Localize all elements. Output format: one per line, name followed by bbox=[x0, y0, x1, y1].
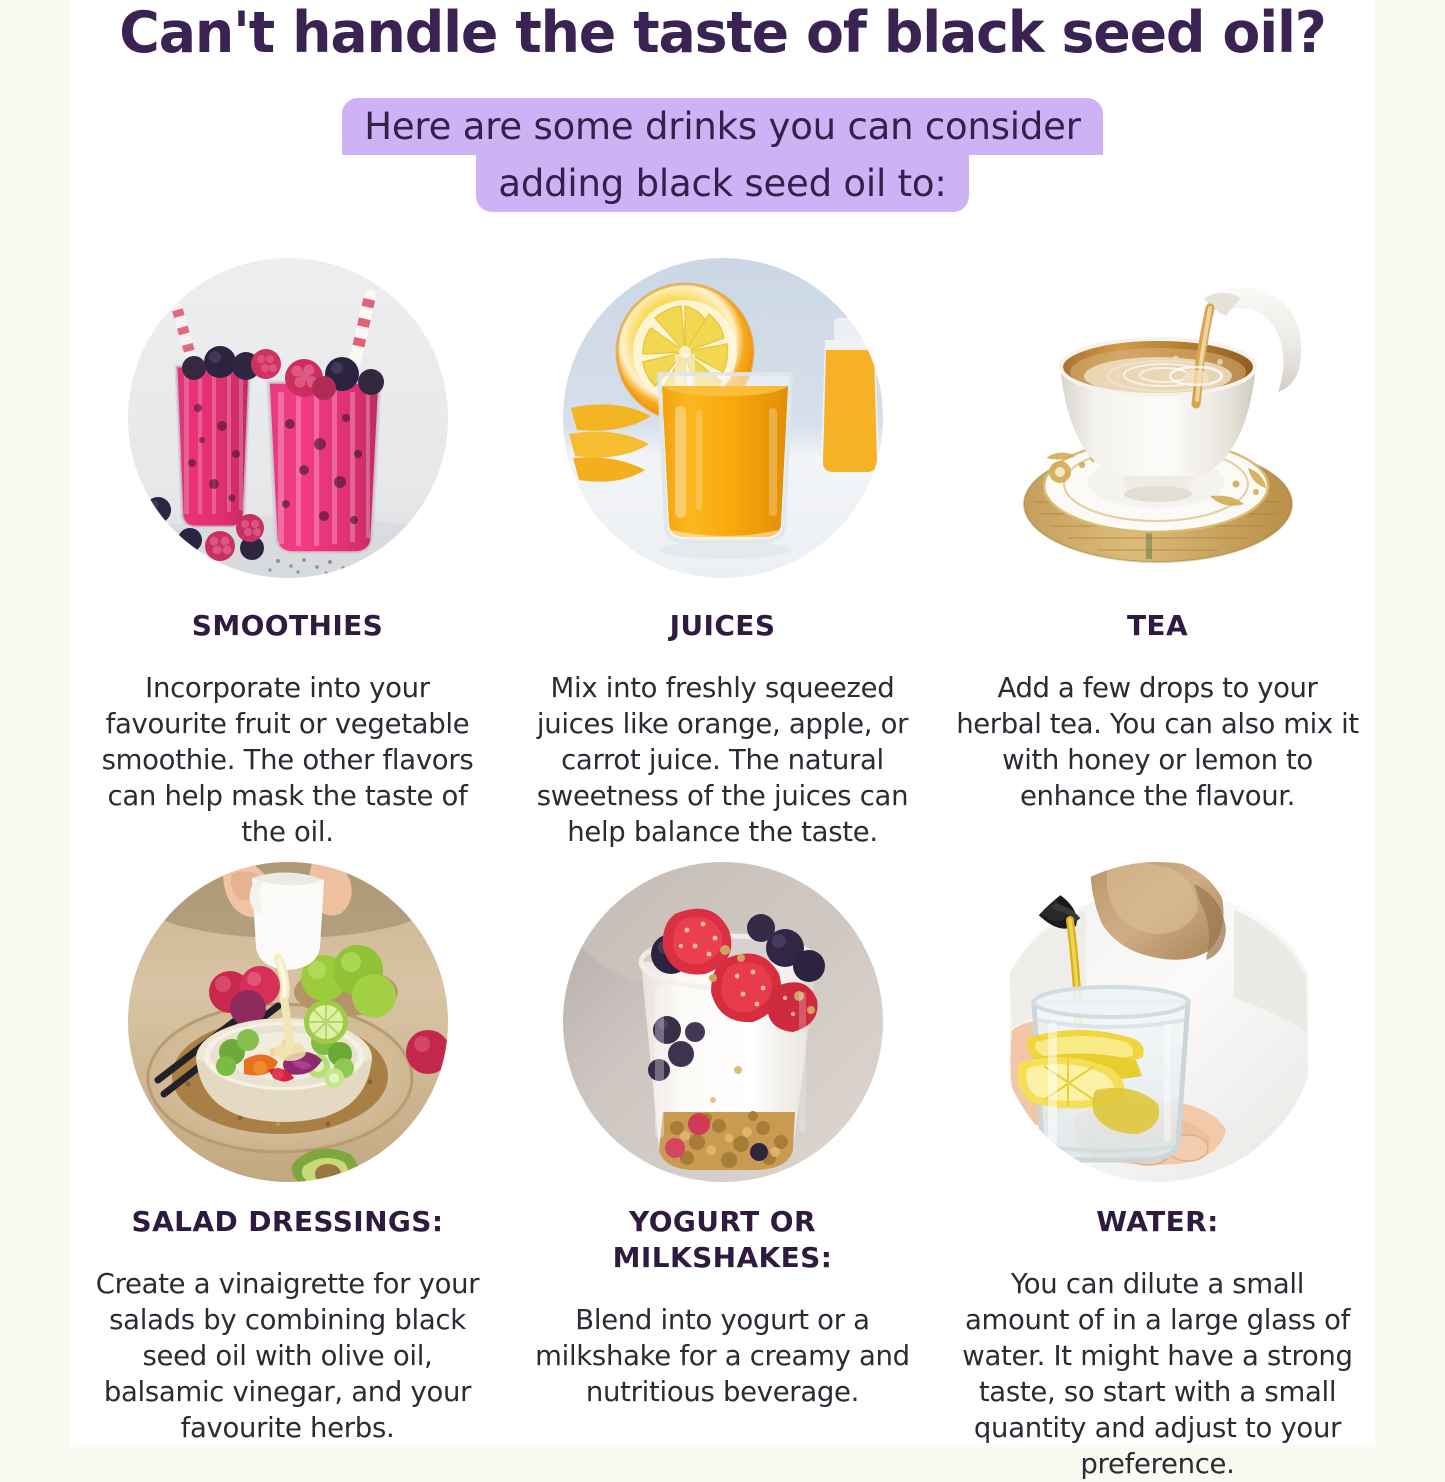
card-title-juices: JUICES bbox=[521, 578, 924, 644]
yogurt-milkshakes-photo bbox=[563, 862, 883, 1182]
subtitle-line-1: Here are some drinks you can consider bbox=[342, 98, 1103, 155]
subtitle-row-1: Here are some drinks you can consider bbox=[0, 98, 1445, 155]
tea-photo bbox=[998, 258, 1318, 578]
infographic-page: Can't handle the taste of black seed oil… bbox=[0, 0, 1445, 1445]
card-title-smoothies: SMOOTHIES bbox=[86, 578, 489, 644]
card-smoothies: SMOOTHIES Incorporate into your favourit… bbox=[70, 258, 505, 850]
subtitle-row-2: adding black seed oil to: bbox=[0, 155, 1445, 212]
header: Can't handle the taste of black seed oil… bbox=[0, 0, 1445, 64]
card-body-yogurt-milkshakes: Blend into yogurt or a milkshake for a c… bbox=[521, 1276, 924, 1410]
page-title: Can't handle the taste of black seed oil… bbox=[22, 4, 1424, 64]
subtitle-line-2: adding black seed oil to: bbox=[476, 155, 968, 212]
card-body-salad-dressings: Create a vinaigrette for your salads by … bbox=[86, 1240, 489, 1446]
card-row-2: SALAD DRESSINGS: Create a vinaigrette fo… bbox=[70, 862, 1375, 1482]
card-water: WATER: You can dilute a small amount of … bbox=[940, 862, 1375, 1482]
card-row-1: SMOOTHIES Incorporate into your favourit… bbox=[70, 258, 1375, 850]
card-body-smoothies: Incorporate into your favourite fruit or… bbox=[86, 644, 489, 850]
salad-dressings-photo bbox=[128, 862, 448, 1182]
card-title-water: WATER: bbox=[956, 1182, 1359, 1240]
card-salad-dressings: SALAD DRESSINGS: Create a vinaigrette fo… bbox=[70, 862, 505, 1482]
card-yogurt-milkshakes: YOGURT OR MILKSHAKES: Blend into yogurt … bbox=[505, 862, 940, 1482]
water-photo bbox=[998, 862, 1318, 1182]
juices-photo bbox=[563, 258, 883, 578]
card-title-tea: TEA bbox=[956, 578, 1359, 644]
card-tea: TEA Add a few drops to your herbal tea. … bbox=[940, 258, 1375, 850]
subtitle-highlight-block: Here are some drinks you can consider ad… bbox=[0, 98, 1445, 212]
smoothies-photo bbox=[128, 258, 448, 578]
card-body-water: You can dilute a small amount of in a la… bbox=[956, 1240, 1359, 1482]
card-title-salad-dressings: SALAD DRESSINGS: bbox=[86, 1182, 489, 1240]
card-body-juices: Mix into freshly squeezed juices like or… bbox=[521, 644, 924, 850]
card-title-yogurt-milkshakes: YOGURT OR MILKSHAKES: bbox=[521, 1182, 924, 1276]
card-juices: JUICES Mix into freshly squeezed juices … bbox=[505, 258, 940, 850]
card-body-tea: Add a few drops to your herbal tea. You … bbox=[956, 644, 1359, 814]
